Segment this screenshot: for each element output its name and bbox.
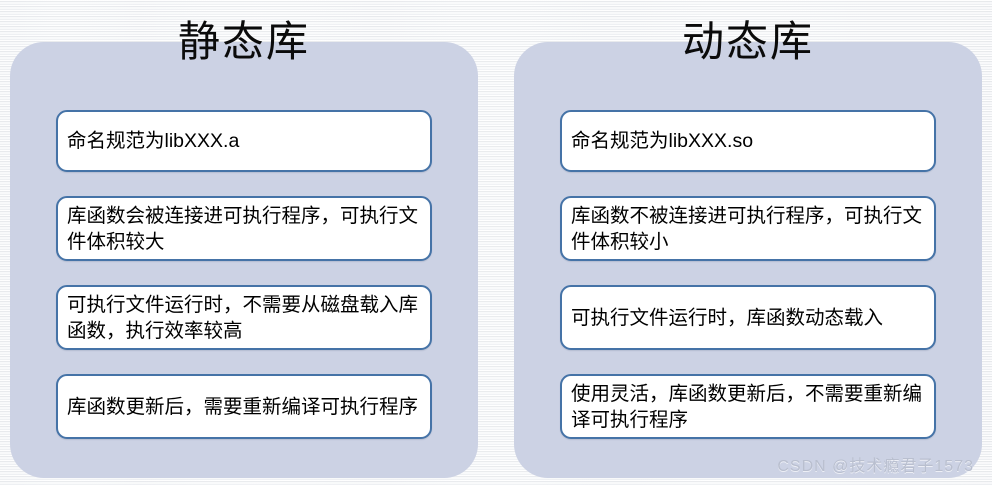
panel-static-library: 静态库 命名规范为libXXX.a 库函数会被连接进可执行程序，可执行文件体积较… [10,42,478,478]
fact-box-static-4: 库函数更新后，需要重新编译可执行程序 [56,374,432,439]
panel-dynamic-library: 动态库 命名规范为libXXX.so 库函数不被连接进可执行程序，可执行文件体积… [514,42,982,478]
fact-box-static-3: 可执行文件运行时，不需要从磁盘载入库函数，执行效率较高 [56,285,432,350]
panel-title-static-library: 静态库 [10,16,478,68]
fact-text-dynamic-3: 可执行文件运行时，库函数动态载入 [571,305,883,331]
panel-title-dynamic-library: 动态库 [514,16,982,68]
fact-text-static-2: 库函数会被连接进可执行程序，可执行文件体积较大 [67,203,421,255]
fact-text-static-4: 库函数更新后，需要重新编译可执行程序 [67,394,418,420]
fact-list-static-library: 命名规范为libXXX.a 库函数会被连接进可执行程序，可执行文件体积较大 可执… [56,110,432,463]
fact-box-static-2: 库函数会被连接进可执行程序，可执行文件体积较大 [56,196,432,261]
fact-box-dynamic-4: 使用灵活，库函数更新后，不需要重新编译可执行程序 [560,374,936,439]
fact-text-dynamic-1: 命名规范为libXXX.so [571,128,753,154]
fact-text-dynamic-4: 使用灵活，库函数更新后，不需要重新编译可执行程序 [571,381,925,433]
slide-canvas: 静态库 命名规范为libXXX.a 库函数会被连接进可执行程序，可执行文件体积较… [0,0,992,485]
fact-box-dynamic-1: 命名规范为libXXX.so [560,110,936,172]
fact-text-dynamic-2: 库函数不被连接进可执行程序，可执行文件体积较小 [571,203,925,255]
fact-list-dynamic-library: 命名规范为libXXX.so 库函数不被连接进可执行程序，可执行文件体积较小 可… [560,110,936,463]
fact-text-static-1: 命名规范为libXXX.a [67,128,239,154]
fact-box-dynamic-3: 可执行文件运行时，库函数动态载入 [560,285,936,350]
fact-box-static-1: 命名规范为libXXX.a [56,110,432,172]
fact-text-static-3: 可执行文件运行时，不需要从磁盘载入库函数，执行效率较高 [67,292,421,344]
fact-box-dynamic-2: 库函数不被连接进可执行程序，可执行文件体积较小 [560,196,936,261]
